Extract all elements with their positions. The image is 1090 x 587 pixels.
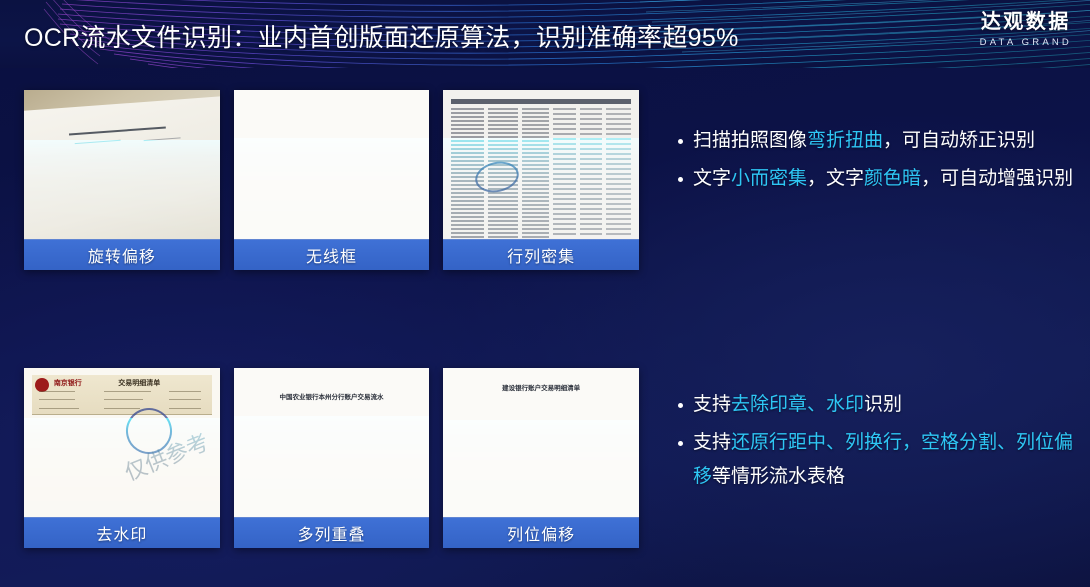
- plain-text: 等情形流水表格: [712, 466, 845, 487]
- bullet-item: 支持还原行距中、列换行，空格分割、列位偏移等情形流水表格: [676, 426, 1076, 494]
- doc-title: 建设银行账户交易明细清单: [443, 382, 639, 392]
- plain-text: 识别: [864, 394, 902, 415]
- thumbnail-remove-watermark[interactable]: 南京银行 交易明细清单: [24, 368, 220, 548]
- bank-doc-title: 交易明细清单: [118, 378, 160, 388]
- plain-text: 扫描拍照图像: [693, 130, 807, 151]
- thumbnail-multi-column-overlap[interactable]: 中国农业银行本州分行账户交易流水: [234, 368, 430, 548]
- bullet-item: 支持去除印章、水印识别: [676, 388, 1076, 422]
- thumbnail-rotation-offset[interactable]: 旋转偏移: [24, 90, 220, 270]
- feature-list-bottom: 支持去除印章、水印识别 支持还原行距中、列换行，空格分割、列位偏移等情形流水表格: [676, 388, 1076, 497]
- thumbnail-caption: 行列密集: [443, 239, 639, 270]
- bullet-item: 文字小而密集，文字颜色暗，可自动增强识别: [676, 162, 1076, 196]
- highlighted-text: 颜色暗: [864, 168, 921, 189]
- sample-row-top: 旋转偏移: [24, 90, 639, 270]
- bullet-item: 扫描拍照图像弯折扭曲，可自动矫正识别: [676, 124, 1076, 158]
- brand-logo: 达观数据 DATA GRAND: [980, 12, 1072, 48]
- thumbnail-dense-rows-columns[interactable]: 行列密集: [443, 90, 639, 270]
- highlighted-text: 弯折扭曲: [807, 130, 883, 151]
- sample-row-bottom: 南京银行 交易明细清单: [24, 368, 639, 548]
- plain-text: 支持: [693, 432, 731, 453]
- brand-name-en: DATA GRAND: [980, 38, 1072, 48]
- page-title: OCR流水文件识别：业内首创版面还原算法，识别准确率超95%: [24, 18, 739, 54]
- feature-list-top: 扫描拍照图像弯折扭曲，可自动矫正识别 文字小而密集，文字颜色暗，可自动增强识别: [676, 124, 1076, 200]
- slide-root: OCR流水文件识别：业内首创版面还原算法，识别准确率超95% 达观数据 DATA…: [0, 0, 1090, 587]
- doc-title: 中国农业银行本州分行账户交易流水: [234, 391, 430, 401]
- plain-text: ，可自动增强识别: [921, 168, 1073, 189]
- thumbnail-caption: 无线框: [234, 239, 430, 270]
- plain-text: 支持: [693, 394, 731, 415]
- thumbnail-caption: 多列重叠: [234, 517, 430, 548]
- brand-name-cn: 达观数据: [980, 12, 1072, 32]
- plain-text: ，可自动矫正识别: [883, 130, 1035, 151]
- sample-image-grid: 旋转偏移: [24, 90, 639, 550]
- thumbnail-column-shift[interactable]: 建设银行账户交易明细清单: [443, 368, 639, 548]
- highlighted-text: 小而密集: [731, 168, 807, 189]
- plain-text: 文字: [693, 168, 731, 189]
- thumbnail-borderless-table[interactable]: 无线框: [234, 90, 430, 270]
- thumbnail-caption: 旋转偏移: [24, 239, 220, 270]
- bank-name: 南京银行: [54, 378, 82, 388]
- plain-text: ，文字: [807, 168, 864, 189]
- thumbnail-caption: 去水印: [24, 517, 220, 548]
- thumbnail-caption: 列位偏移: [443, 517, 639, 548]
- highlighted-text: 去除印章、水印: [731, 394, 864, 415]
